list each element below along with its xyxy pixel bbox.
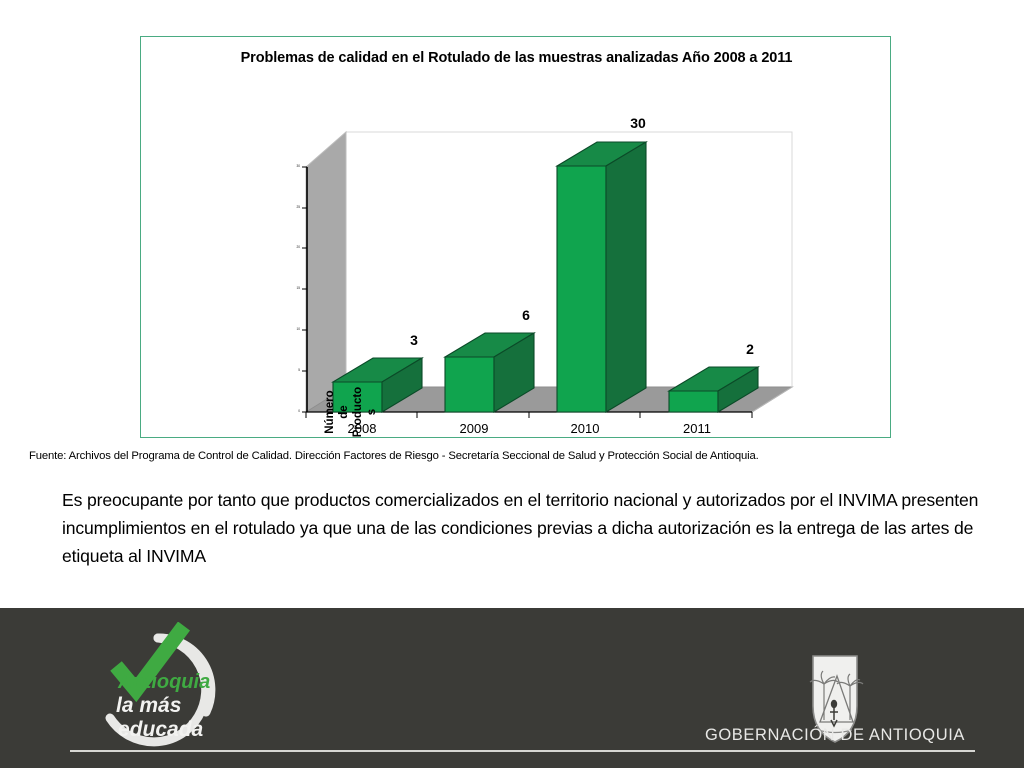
logo-line1: Antioquia	[117, 671, 210, 693]
y-tick-label-10: 10	[288, 328, 300, 331]
body-paragraph: Es preocupante por tanto que productos c…	[62, 487, 987, 570]
slide-canvas: Problemas de calidad en el Rotulado de l…	[0, 0, 1024, 768]
footer-divider	[70, 750, 975, 752]
x-category-label-2011: 2011	[652, 421, 742, 436]
y-tick-label-30: 30	[288, 165, 300, 168]
antioquia-logo: Antioquia la más educada	[58, 622, 258, 750]
logo-line2: la más	[116, 694, 181, 717]
y-tick-label-15: 15	[288, 287, 300, 290]
chart-title: Problemas de calidad en el Rotulado de l…	[181, 49, 852, 68]
chart-panel: Problemas de calidad en el Rotulado de l…	[140, 36, 891, 438]
gobernacion-label: GOBERNACIÓN DE ANTIOQUIA	[700, 726, 970, 745]
y-tick-label-25: 25	[288, 206, 300, 209]
source-note: Fuente: Archivos del Programa de Control…	[29, 450, 989, 462]
x-category-label-2008: 2008	[317, 421, 407, 436]
chart-3d-scene	[141, 127, 892, 439]
bar-value-2010: 30	[613, 115, 663, 131]
bar-value-2011: 2	[725, 341, 775, 357]
logo-line3: educada	[118, 718, 204, 741]
bar-value-2008: 3	[389, 332, 439, 348]
chart-plot-area: 0 5 10 15 20 25 30 Número de Producto s …	[141, 127, 892, 439]
slide-footer: Antioquia la más educada	[0, 608, 1024, 768]
x-category-label-2010: 2010	[540, 421, 630, 436]
chart-bar-2010	[557, 142, 646, 412]
x-category-label-2009: 2009	[429, 421, 519, 436]
y-tick-label-20: 20	[288, 246, 300, 249]
bar-value-2009: 6	[501, 307, 551, 323]
